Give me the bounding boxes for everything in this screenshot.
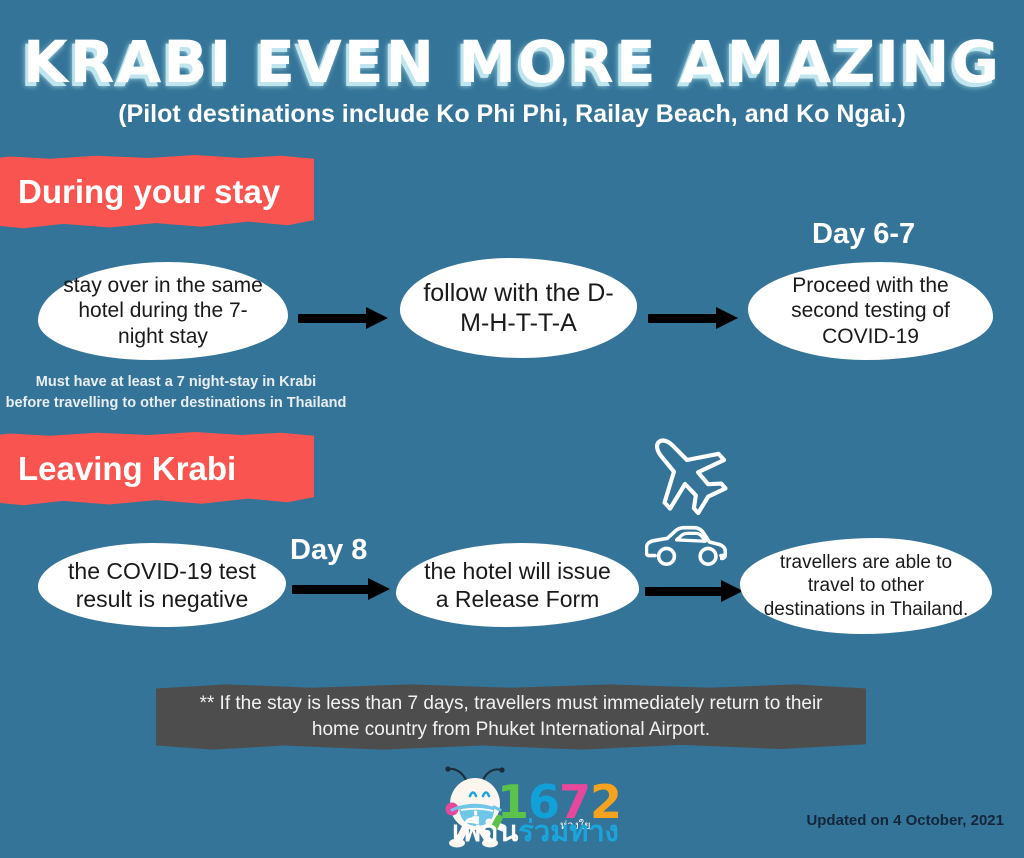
arrow-row2-2 [645, 580, 745, 602]
arrow-shaft [648, 314, 718, 323]
day-label-6-7: Day 6-7 [812, 218, 915, 251]
bubble-test-negative-text: the COVID-19 test result is negative [60, 557, 264, 613]
airplane-icon [640, 426, 732, 518]
day-label-8: Day 8 [290, 534, 367, 567]
bubble-second-test: Proceed with the second testing of COVID… [748, 262, 993, 360]
bubble-release-form: the hotel will issue a Release Form [396, 543, 639, 627]
bubble-dmhtta-text: follow with the D-M-H-T-T-A [422, 278, 615, 339]
arrow-row1-1 [298, 307, 388, 329]
bubble-able-to-travel-text: travellers are able to travel to other d… [762, 551, 970, 621]
arrow-row2-1 [292, 578, 392, 600]
page-subtitle: (Pilot destinations include Ko Phi Phi, … [0, 100, 1024, 129]
banner-label-during: During your stay [18, 173, 280, 211]
arrow-row1-2 [648, 307, 738, 329]
car-icon [645, 523, 731, 571]
arrow-shaft [298, 314, 368, 323]
arrow-head [368, 578, 390, 600]
footnote-text: ** If the stay is less than 7 days, trav… [184, 691, 838, 742]
section-banner-leaving-krabi: Leaving Krabi [0, 432, 314, 506]
infographic-canvas: KRABI EVEN MORE AMAZING (Pilot destinati… [0, 0, 1024, 858]
note-line-1: Must have at least a 7 night-stay in Kra… [0, 372, 352, 393]
bubble-second-test-text: Proceed with the second testing of COVID… [770, 273, 971, 350]
arrow-shaft [292, 585, 370, 594]
banner-label-leaving: Leaving Krabi [18, 450, 236, 488]
bubble-release-form-text: the hotel will issue a Release Form [418, 557, 617, 613]
bubble-stay-hotel: stay over in the same hotel during the 7… [38, 262, 288, 360]
arrow-head [366, 307, 388, 329]
updated-date-text: Updated on 4 October, 2021 [0, 812, 1004, 829]
bubble-stay-hotel-text: stay over in the same hotel during the 7… [60, 273, 266, 350]
page-title: KRABI EVEN MORE AMAZING [0, 28, 1024, 96]
section-banner-during-your-stay: During your stay [0, 155, 314, 229]
bubble-able-to-travel: travellers are able to travel to other d… [740, 538, 992, 634]
arrow-shaft [645, 587, 723, 596]
bubble-dmhtta: follow with the D-M-H-T-T-A [400, 258, 637, 358]
bubble-test-negative: the COVID-19 test result is negative [38, 543, 286, 627]
note-line-2: before travelling to other destinations … [0, 393, 352, 414]
note-minimum-stay: Must have at least a 7 night-stay in Kra… [0, 372, 352, 414]
footnote-box: ** If the stay is less than 7 days, trav… [156, 683, 866, 751]
arrow-head [716, 307, 738, 329]
